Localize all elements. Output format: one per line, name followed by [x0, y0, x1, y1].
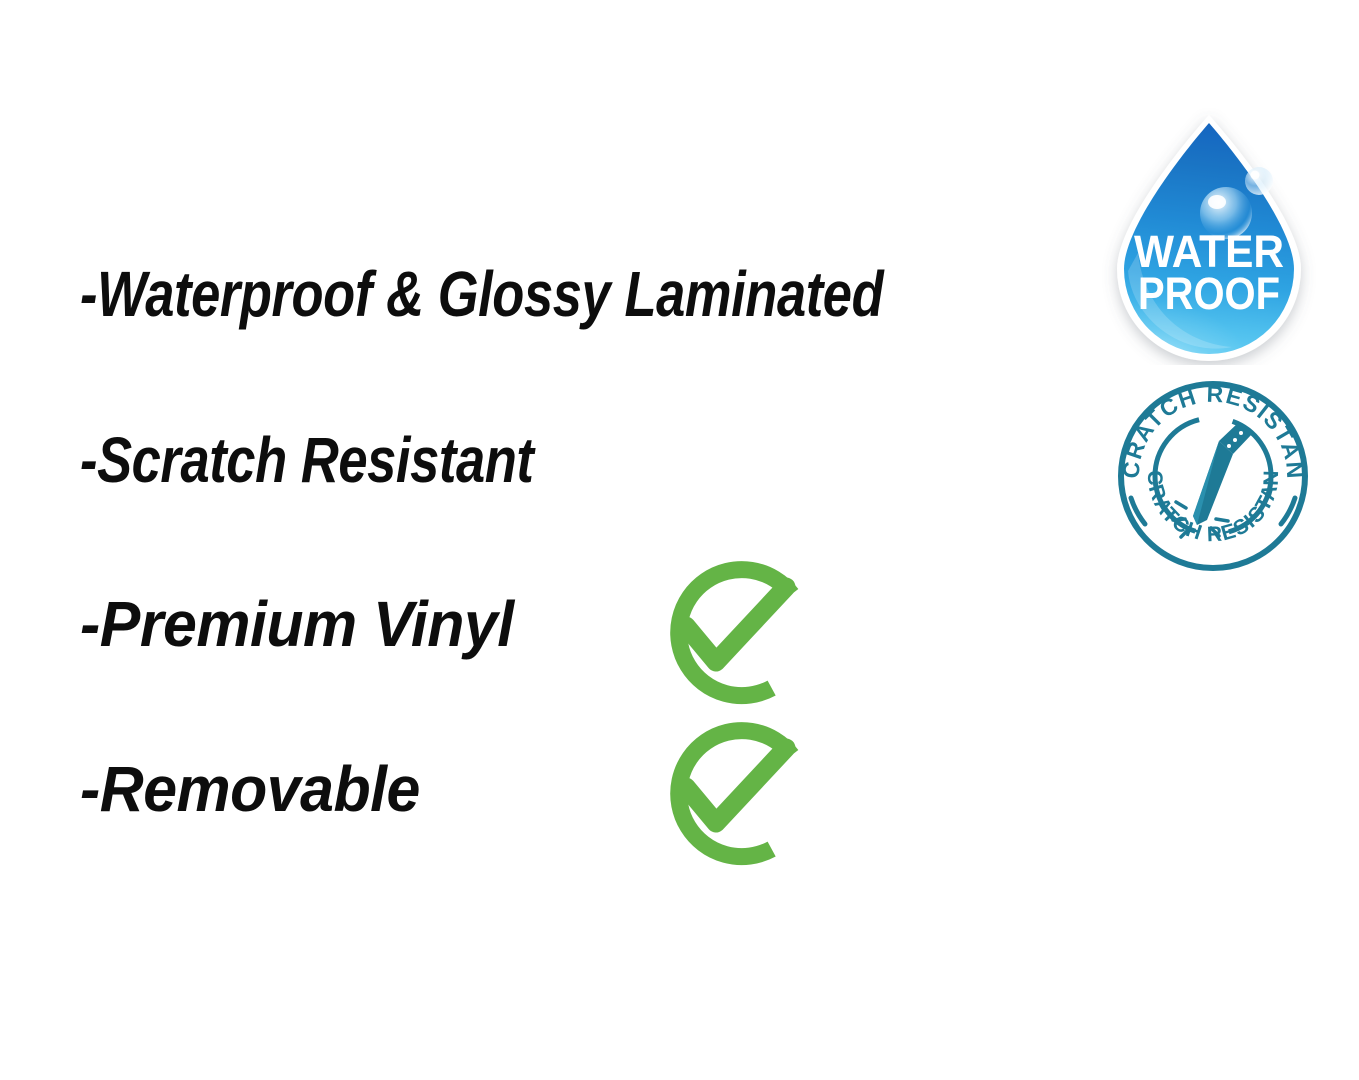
knife-icon	[1193, 422, 1252, 525]
feature-item-removable: -Removable	[80, 757, 420, 821]
check-tick	[686, 748, 786, 823]
waterproof-badge: WATER PROOF	[1098, 103, 1320, 365]
waterproof-line-2: PROOF	[1138, 268, 1280, 319]
check-tick	[686, 587, 786, 662]
feature-item-scratch-resistant: -Scratch Resistant	[80, 428, 533, 492]
check-circle-removable	[638, 713, 838, 878]
feature-item-waterproof-glossy-laminated: -Waterproof & Glossy Laminated	[80, 262, 883, 326]
check-circle-premium-vinyl	[638, 552, 838, 717]
feature-item-premium-vinyl: -Premium Vinyl	[80, 592, 514, 656]
scratch-resistant-badge: SCRATCH RESISTANT SCRATCH RESISTANT	[1115, 378, 1311, 574]
feature-list-graphic: -Waterproof & Glossy Laminated -Scratch …	[0, 0, 1359, 1080]
bubble-small	[1245, 167, 1273, 195]
